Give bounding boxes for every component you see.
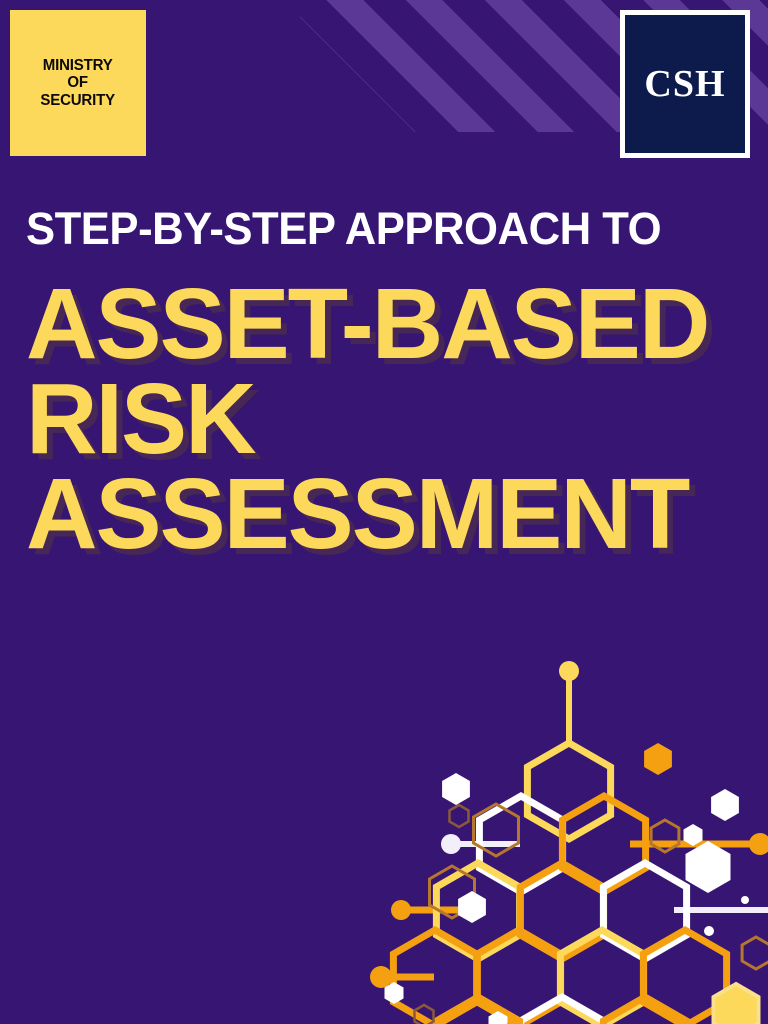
headline-title-line-2: RISK [26,372,745,467]
hexagon-network-graphic [368,648,768,1024]
csh-logo-label: CSH [644,62,725,106]
csh-logo-badge: CSH [620,10,750,158]
poster-canvas: MINISTRY OF SECURITY CSH STEP-BY-STEP AP… [0,0,768,1024]
headline-title-line-3: ASSESSMENT [26,467,745,562]
headline-title: ASSET-BASED RISK ASSESSMENT [26,277,752,562]
ministry-of-security-badge: MINISTRY OF SECURITY [10,10,146,156]
ministry-badge-label: MINISTRY OF SECURITY [41,57,116,109]
headline-title-line-1: ASSET-BASED [26,277,745,372]
headline-kicker: STEP-BY-STEP APPROACH TO [26,206,730,251]
headline-block: STEP-BY-STEP APPROACH TO ASSET-BASED RIS… [26,206,752,562]
stripe-corner-mask [300,0,440,132]
